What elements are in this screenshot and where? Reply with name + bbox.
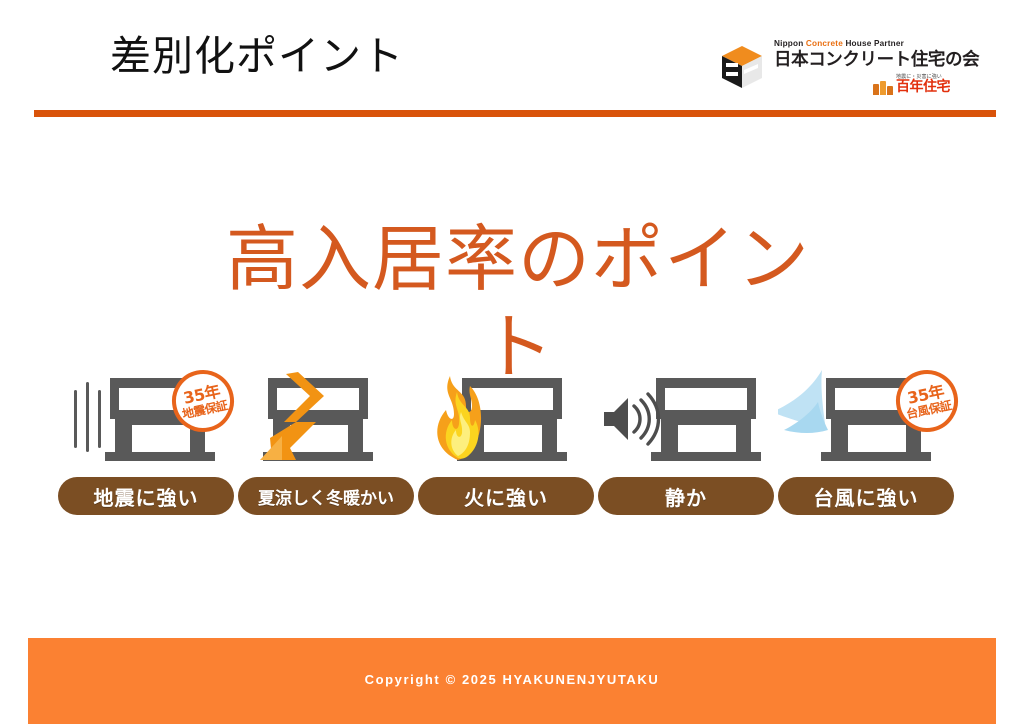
sublogo-hyakunen: 地震に・災害に強い 百年住宅: [873, 74, 950, 95]
logo-tagline-pre: Nippon: [774, 39, 806, 48]
sublogo-name: 百年住宅: [896, 80, 950, 95]
main-heading: 高入居率のポイント: [208, 215, 828, 391]
buildings-bars-icon: [873, 80, 893, 95]
slide-header: 差別化ポイント Nippon Concrete House Partner 日本…: [28, 0, 996, 108]
logo-company-name-jp: 日本コンクリート住宅の会: [774, 49, 950, 71]
isometric-cube-logo-icon: [718, 44, 766, 90]
building-with-speaker-icon: [598, 368, 774, 470]
feature-item-fire[interactable]: 火に強い: [418, 368, 594, 518]
slide-canvas: 差別化ポイント Nippon Concrete House Partner 日本…: [28, 0, 996, 724]
logo-tagline-post: House Partner: [843, 39, 904, 48]
feature-label-insulation: 夏涼しく冬暖かい: [238, 477, 414, 515]
feature-label-earthquake: 地震に強い: [58, 477, 234, 515]
logo-tagline: Nippon Concrete House Partner: [774, 38, 950, 49]
header-divider: [34, 110, 996, 117]
building-with-zigzag-arrow-icon: [238, 368, 414, 470]
feature-label-fire: 火に強い: [418, 477, 594, 515]
slide: 差別化ポイント Nippon Concrete House Partner 日本…: [0, 0, 1024, 724]
feature-item-earthquake[interactable]: 35年 地震保証 地震に強い: [58, 368, 234, 518]
feature-item-quiet[interactable]: 静か: [598, 368, 774, 518]
feature-label-quiet: 静か: [598, 477, 774, 515]
feature-strip: 35年 地震保証 地震に強い: [58, 368, 978, 518]
slide-footer: Copyright © 2025 HYAKUNENJYUTAKU: [28, 638, 996, 724]
company-logo: Nippon Concrete House Partner 日本コンクリート住宅…: [718, 38, 950, 98]
feature-item-typhoon[interactable]: 35年 台風保証 台風に強い: [778, 368, 954, 518]
page-title: 差別化ポイント: [110, 30, 404, 82]
feature-item-insulation[interactable]: 夏涼しく冬暖かい: [238, 368, 414, 518]
logo-text: Nippon Concrete House Partner 日本コンクリート住宅…: [774, 38, 950, 71]
building-with-flame-icon: [418, 368, 594, 470]
feature-label-typhoon: 台風に強い: [778, 477, 954, 515]
logo-tagline-highlight: Concrete: [806, 39, 843, 48]
copyright-text: Copyright © 2025 HYAKUNENJYUTAKU: [28, 672, 996, 687]
